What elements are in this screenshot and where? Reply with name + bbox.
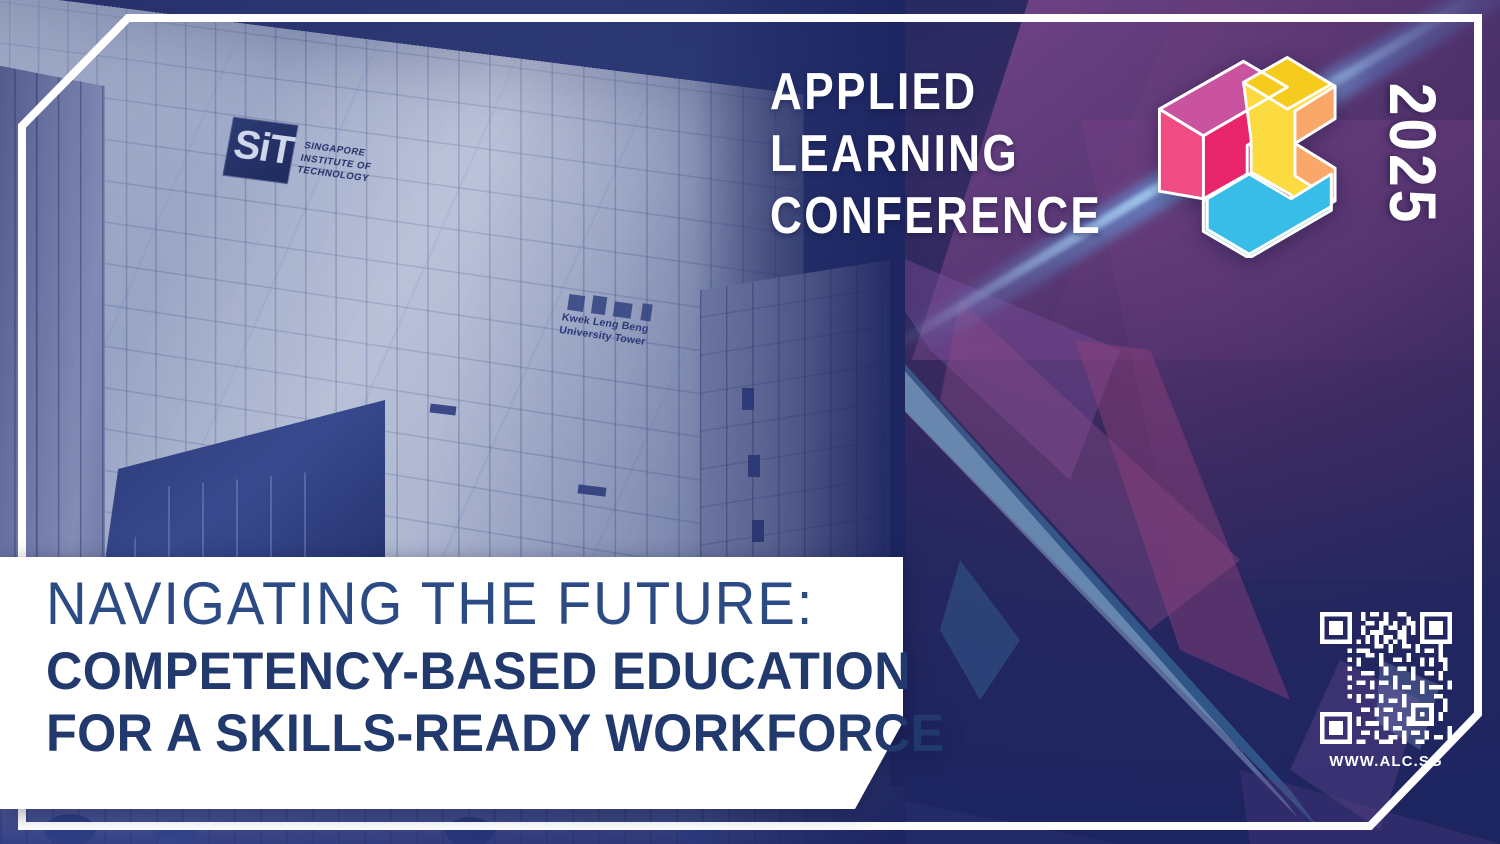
- title-line-3: CONFERENCE: [770, 184, 1138, 251]
- year-label: 2025: [1368, 46, 1454, 262]
- alc-logo: [1148, 48, 1358, 258]
- tri-arrow-icon: [1148, 48, 1358, 258]
- website-url[interactable]: WWW.ALC.SG: [1320, 753, 1452, 770]
- headline-panel: NAVIGATING THE FUTURE: COMPETENCY-BASED …: [0, 557, 905, 809]
- title-line-1: APPLIED: [770, 60, 1138, 127]
- headline-line-1: NAVIGATING THE FUTURE:: [46, 567, 845, 641]
- headline-line-3: FOR A SKILLS-READY WORKFORCE: [46, 703, 854, 765]
- qr-code-icon[interactable]: [1320, 612, 1452, 744]
- year-text: 2025: [1378, 83, 1444, 225]
- conference-banner: SiT SINGAPORE INSTITUTE OF TECHNOLOGY Kw…: [0, 0, 1500, 844]
- headline-line-2: COMPETENCY-BASED EDUCATION: [46, 641, 854, 703]
- sit-logo-plate: SiT: [222, 117, 298, 185]
- title-line-2: LEARNING: [770, 122, 1138, 189]
- sit-mark-text: SiT: [231, 124, 297, 171]
- conference-title: APPLIED LEARNING CONFERENCE: [770, 62, 1170, 248]
- qr-block[interactable]: WWW.ALC.SG: [1320, 612, 1452, 770]
- sit-signage: SiT SINGAPORE INSTITUTE OF TECHNOLOGY: [212, 117, 392, 252]
- headline-text: NAVIGATING THE FUTURE: COMPETENCY-BASED …: [46, 567, 896, 765]
- sit-name-text: SINGAPORE INSTITUTE OF TECHNOLOGY: [295, 140, 395, 188]
